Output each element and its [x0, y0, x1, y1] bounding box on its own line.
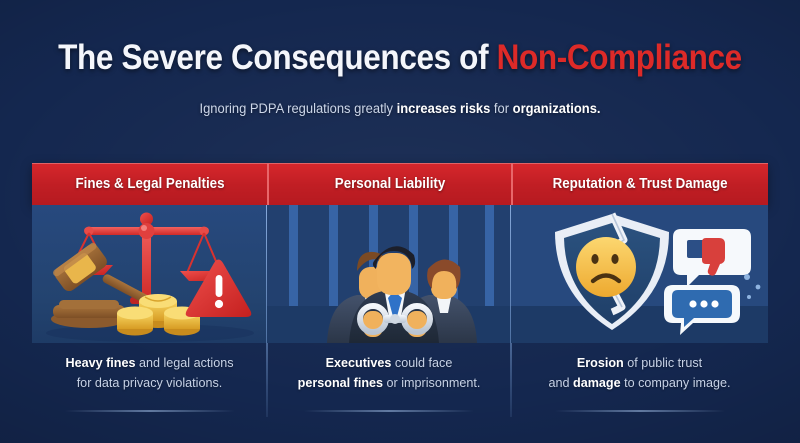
column-header-label: Fines & Legal Penalties	[75, 176, 224, 192]
column-caption-fines: Heavy fines and legal actions for data p…	[38, 353, 261, 393]
caption-bold-1: Heavy fines	[65, 356, 135, 370]
column-fines-legal-penalties: Heavy fines and legal actions for data p…	[32, 205, 267, 443]
column-header-liability: Personal Liability	[267, 163, 511, 205]
caption-underline	[555, 410, 725, 412]
cracked-shield-illustration	[511, 205, 768, 343]
warning-triangle-icon	[186, 260, 252, 318]
illustration-panel-fines	[32, 205, 267, 343]
column-reputation-trust-damage: Erosion of public trust and damage to co…	[511, 205, 768, 443]
illustration-panel-reputation	[511, 205, 768, 343]
header: The Severe Consequences of Non-Complianc…	[0, 0, 800, 140]
caption-underline	[65, 410, 235, 412]
column-header-reputation: Reputation & Trust Damage	[511, 163, 768, 205]
sad-face-icon	[576, 237, 636, 297]
executives-behind-bars-illustration	[267, 205, 511, 343]
caption-bold-2: personal fines	[298, 376, 383, 390]
page-title-main: The Severe Consequences of	[58, 38, 496, 77]
caption-text-1: could face	[391, 356, 452, 370]
column-header-band: Fines & Legal Penalties Personal Liabili…	[32, 163, 768, 205]
scales-gavel-coins-warning-illustration	[32, 205, 267, 343]
column-personal-liability: Executives could face personal fines or …	[267, 205, 511, 443]
caption-text-2: or imprisonment.	[383, 376, 480, 390]
subtitle-part-4: organizations.	[513, 101, 601, 116]
column-header-fines: Fines & Legal Penalties	[32, 163, 267, 205]
page-title-accent: Non-Compliance	[497, 38, 742, 77]
caption-bold-1: Executives	[326, 356, 392, 370]
caption-text-1: and legal actions	[135, 356, 233, 370]
caption-bold-2: damage	[573, 376, 621, 390]
column-caption-liability: Executives could face personal fines or …	[273, 353, 505, 393]
caption-underline	[304, 410, 474, 412]
subtitle-part-1: Ignoring PDPA regulations greatly	[199, 101, 396, 116]
column-header-label: Reputation & Trust Damage	[553, 176, 728, 192]
column-header-label: Personal Liability	[335, 176, 445, 192]
caption-bold-1: Erosion	[577, 356, 624, 370]
caption-text-2b: to company image.	[621, 376, 731, 390]
column-caption-reputation: Erosion of public trust and damage to co…	[517, 353, 762, 393]
subtitle-part-2: increases risks	[397, 101, 491, 116]
caption-text-1: of public trust	[624, 356, 702, 370]
page-subtitle: Ignoring PDPA regulations greatly increa…	[16, 101, 784, 116]
subtitle-part-3: for	[490, 101, 512, 116]
page-title: The Severe Consequences of Non-Complianc…	[40, 38, 760, 78]
caption-text-2: for data privacy violations.	[77, 376, 223, 390]
columns-container: Heavy fines and legal actions for data p…	[32, 205, 768, 443]
caption-text-2a: and	[548, 376, 573, 390]
illustration-panel-liability	[267, 205, 511, 343]
